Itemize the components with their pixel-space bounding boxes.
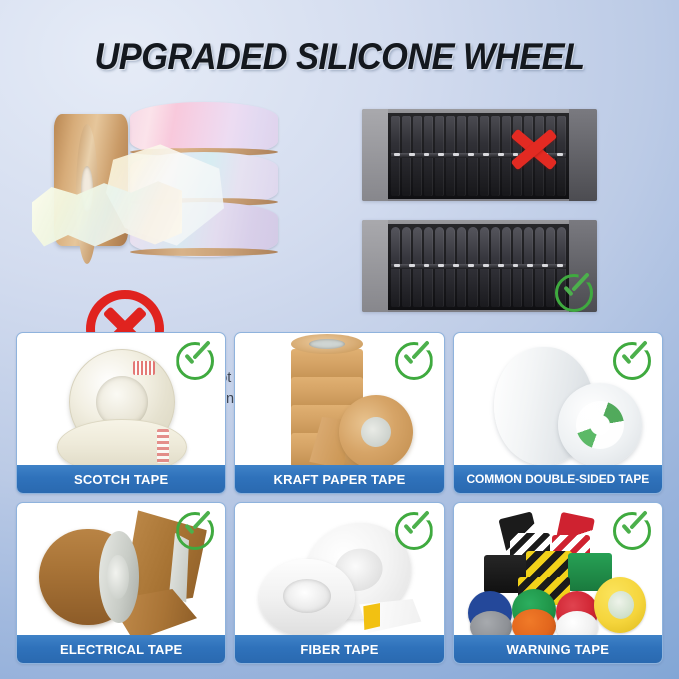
tape-card-label: KRAFT PAPER TAPE (235, 465, 443, 493)
white-fiber-tape-photo (235, 503, 443, 635)
check-tick (620, 516, 646, 542)
cutter-highlights (394, 264, 563, 267)
tape-core (590, 415, 610, 435)
check-tick (562, 278, 588, 304)
white-double-sided-tape-photo (454, 333, 662, 465)
shredder-left-panel (362, 109, 388, 201)
colored-warning-tape-photo (454, 503, 662, 635)
tape-card-scotch[interactable]: SCOTCH TAPE (16, 332, 226, 494)
clear-packing-tape-photo (17, 333, 225, 465)
tape-core (608, 591, 634, 619)
check-tick (620, 346, 646, 372)
check-badge (611, 340, 653, 382)
tape-print-mark (133, 361, 155, 375)
tape-roll (259, 559, 355, 635)
green-check-icon (611, 510, 653, 552)
warning-tape-roll (594, 577, 646, 633)
elasting-ribbon-photo (28, 100, 284, 272)
ribbon-spool-core (130, 248, 278, 256)
product-infographic: UPGRADED SILICONE WHEEL (0, 0, 679, 679)
tape-core (357, 413, 395, 451)
shredder-right-panel (569, 109, 597, 201)
tape-card-label: FIBER TAPE (235, 635, 443, 663)
green-check-icon (174, 340, 216, 382)
green-check-icon (611, 340, 653, 382)
tape-card-label: COMMON DOUBLE-SIDED TAPE (454, 465, 662, 493)
silicone-wheel-shredder-photo (362, 220, 597, 312)
check-tick (183, 516, 209, 542)
check-badge (174, 510, 216, 552)
tape-core (283, 579, 331, 613)
tape-card-label: SCOTCH TAPE (17, 465, 225, 493)
warning-tape-roll (556, 611, 598, 635)
green-check-icon (553, 272, 595, 312)
tape-card-label: WARNING TAPE (454, 635, 662, 663)
check-badge (174, 340, 216, 382)
tape-roll (558, 383, 642, 465)
tape-card-electrical[interactable]: ELECTRICAL TAPE (16, 502, 226, 664)
tape-print-mark (157, 429, 169, 463)
check-badge (553, 272, 595, 312)
green-check-icon (393, 510, 435, 552)
kraft-paper-tape-photo (235, 333, 443, 465)
check-tick (402, 516, 428, 542)
warning-tape-roll (512, 609, 556, 635)
green-check-icon (174, 510, 216, 552)
elasting-ribbon-block: Elasting ribbon is not suitable for this… (28, 100, 288, 315)
tape-roll (39, 529, 137, 625)
green-check-icon (393, 340, 435, 382)
brown-electrical-tape-photo (17, 503, 225, 635)
check-tick (183, 346, 209, 372)
tape-card-double-sided[interactable]: COMMON DOUBLE-SIDED TAPE (453, 332, 663, 494)
check-tick (402, 346, 428, 372)
check-badge (393, 340, 435, 382)
shredder-cutter-well (388, 224, 569, 310)
check-badge (611, 510, 653, 552)
compatible-tape-grid: SCOTCH TAPE (16, 332, 663, 664)
tape-card-kraft-paper[interactable]: KRAFT PAPER TAPE (234, 332, 444, 494)
page-title: UPGRADED SILICONE WHEEL (24, 36, 655, 78)
tape-core (107, 555, 129, 599)
x-strokes (506, 124, 562, 176)
yellow-marker (363, 603, 380, 630)
tape-card-warning[interactable]: WARNING TAPE (453, 502, 663, 664)
check-badge (393, 510, 435, 552)
tape-card-fiber[interactable]: FIBER TAPE (234, 502, 444, 664)
top-illustration-row: Elasting ribbon is not suitable for this… (0, 100, 679, 322)
tape-card-label: ELECTRICAL TAPE (17, 635, 225, 663)
shredder-left-panel (362, 220, 388, 312)
warning-tape-roll (470, 611, 512, 635)
